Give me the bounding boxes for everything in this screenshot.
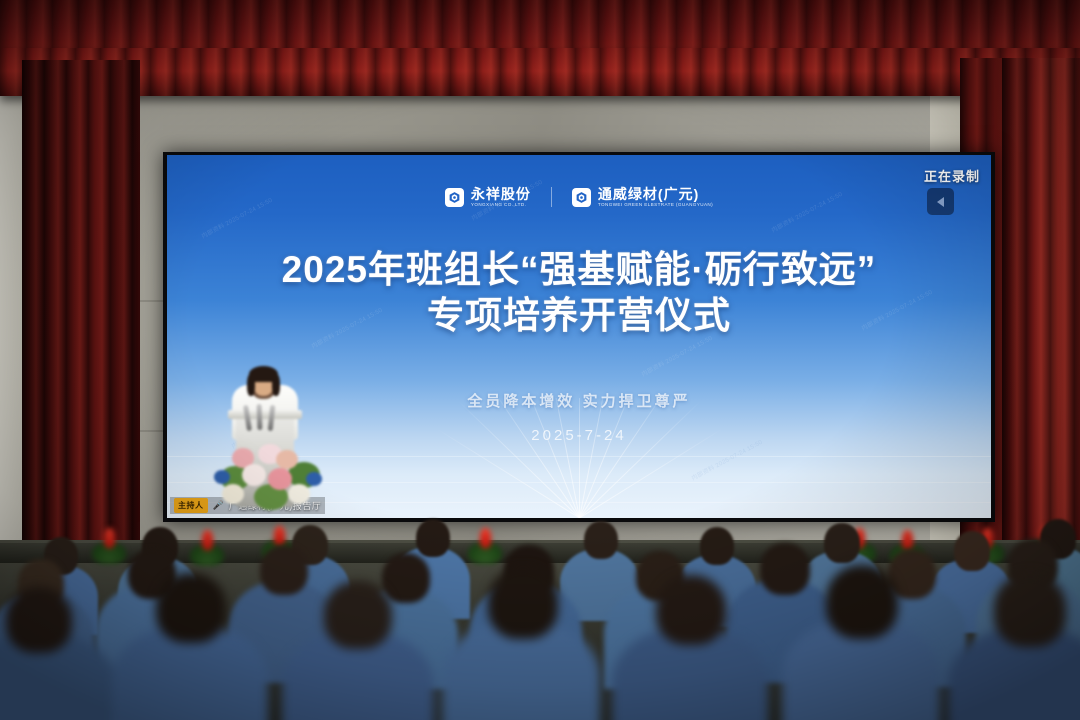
logo-name-en: YONGXIANG CO.,LTD. [471,203,531,208]
logo-mark-icon [445,188,464,207]
logo-mark-icon [572,188,591,207]
photo-canvas: 内部资料 2025-07-24 15:50 内部资料 2025-07-24 15… [0,0,1080,720]
slide-watermark: 内部资料 2025-07-24 15:50 [640,333,714,378]
collapse-panel-button[interactable] [927,188,954,215]
chevron-left-icon [937,197,944,207]
logo-name-cn: 永祥股份 [471,187,531,201]
status-badge: 主持人 [174,498,208,513]
slide-title: 2025年班组长“强基赋能·砺行致远” 专项培养开营仪式 [167,247,991,339]
logo-divider [551,187,552,207]
logo-name-en: TONGWEI GREEN ELBSTRATE (GUANGYUAN) [598,203,713,208]
slide-title-line2: 专项培养开营仪式 [193,293,965,339]
logo-name-cn: 通威绿材(广元) [598,187,713,201]
logo-tongwei: 通威绿材(广元) TONGWEI GREEN ELBSTRATE (GUANGY… [572,187,713,208]
stage-curtain-left [22,60,140,560]
stage-curtain-valance [0,48,1080,96]
podium-top [228,410,302,419]
speaker-hair [247,374,255,396]
logo-yongxiang: 永祥股份 YONGXIANG CO.,LTD. [445,187,531,208]
audience [0,515,1080,720]
speaker-hair [272,374,280,396]
recording-status-label: 正在录制 [924,166,980,185]
microphone [257,404,263,430]
flower-arrangement [214,440,324,508]
slide-logo-lockup: 永祥股份 YONGXIANG CO.,LTD. 通威绿材(广元) [167,187,991,208]
slide-title-line1: 2025年班组长“强基赋能·砺行致远” [282,249,877,290]
